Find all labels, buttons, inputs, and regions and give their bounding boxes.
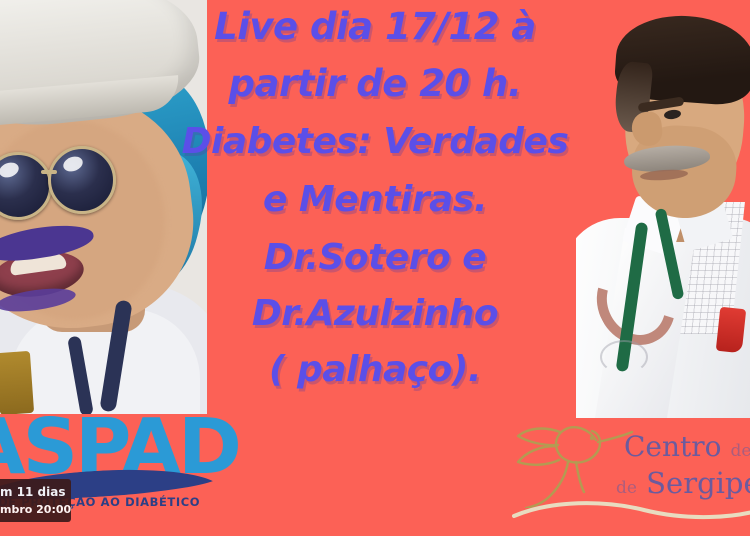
doctor-coat-red-detail [716,307,746,353]
lens-highlight [61,154,85,174]
centro-word-centro: Centro [624,430,722,463]
headline-line-2: partir de 20 h. [150,45,600,102]
headline-line-1: Live dia 17/12 à [150,0,600,45]
centro-word-de-d: de D [730,441,750,461]
headline-line-3: Diabetes: Verdades [150,102,600,160]
centro-de-diabetes-logo: Centro de D de Sergipe [506,410,750,530]
logo-wave-flourish [512,498,750,524]
centro-logo-line-1: Centro de D [624,432,750,461]
headline-line-4: e Mentiras. [150,160,600,218]
headline-line-6: Dr.Azulzinho [150,276,600,332]
photo-dr-sotero [576,0,750,418]
photo-dr-azulzinho [0,0,207,414]
live-announcement-poster: Live dia 17/12 à partir de 20 h. Diabete… [0,0,750,536]
headline-block: Live dia 17/12 à partir de 20 h. Diabete… [150,0,600,388]
lens-highlight [0,160,21,180]
doctor-coat-pocket-seam [600,340,648,374]
centro-logo-line-2: de Sergipe [616,466,750,500]
centro-word-sergipe: Sergipe [646,466,750,500]
clown-sunglasses-bridge [41,170,57,174]
notification-countdown: m 11 dias [0,485,66,499]
headline-line-7: ( palhaço). [150,332,600,388]
notification-overlay: m 11 dias mbro 20:00 [0,479,71,522]
centro-word-de: de [616,478,637,498]
notification-datetime: mbro 20:00 [0,503,71,516]
clown-sunglasses-right-lens [48,146,116,214]
headline-line-5: Dr.Sotero e [150,218,600,276]
